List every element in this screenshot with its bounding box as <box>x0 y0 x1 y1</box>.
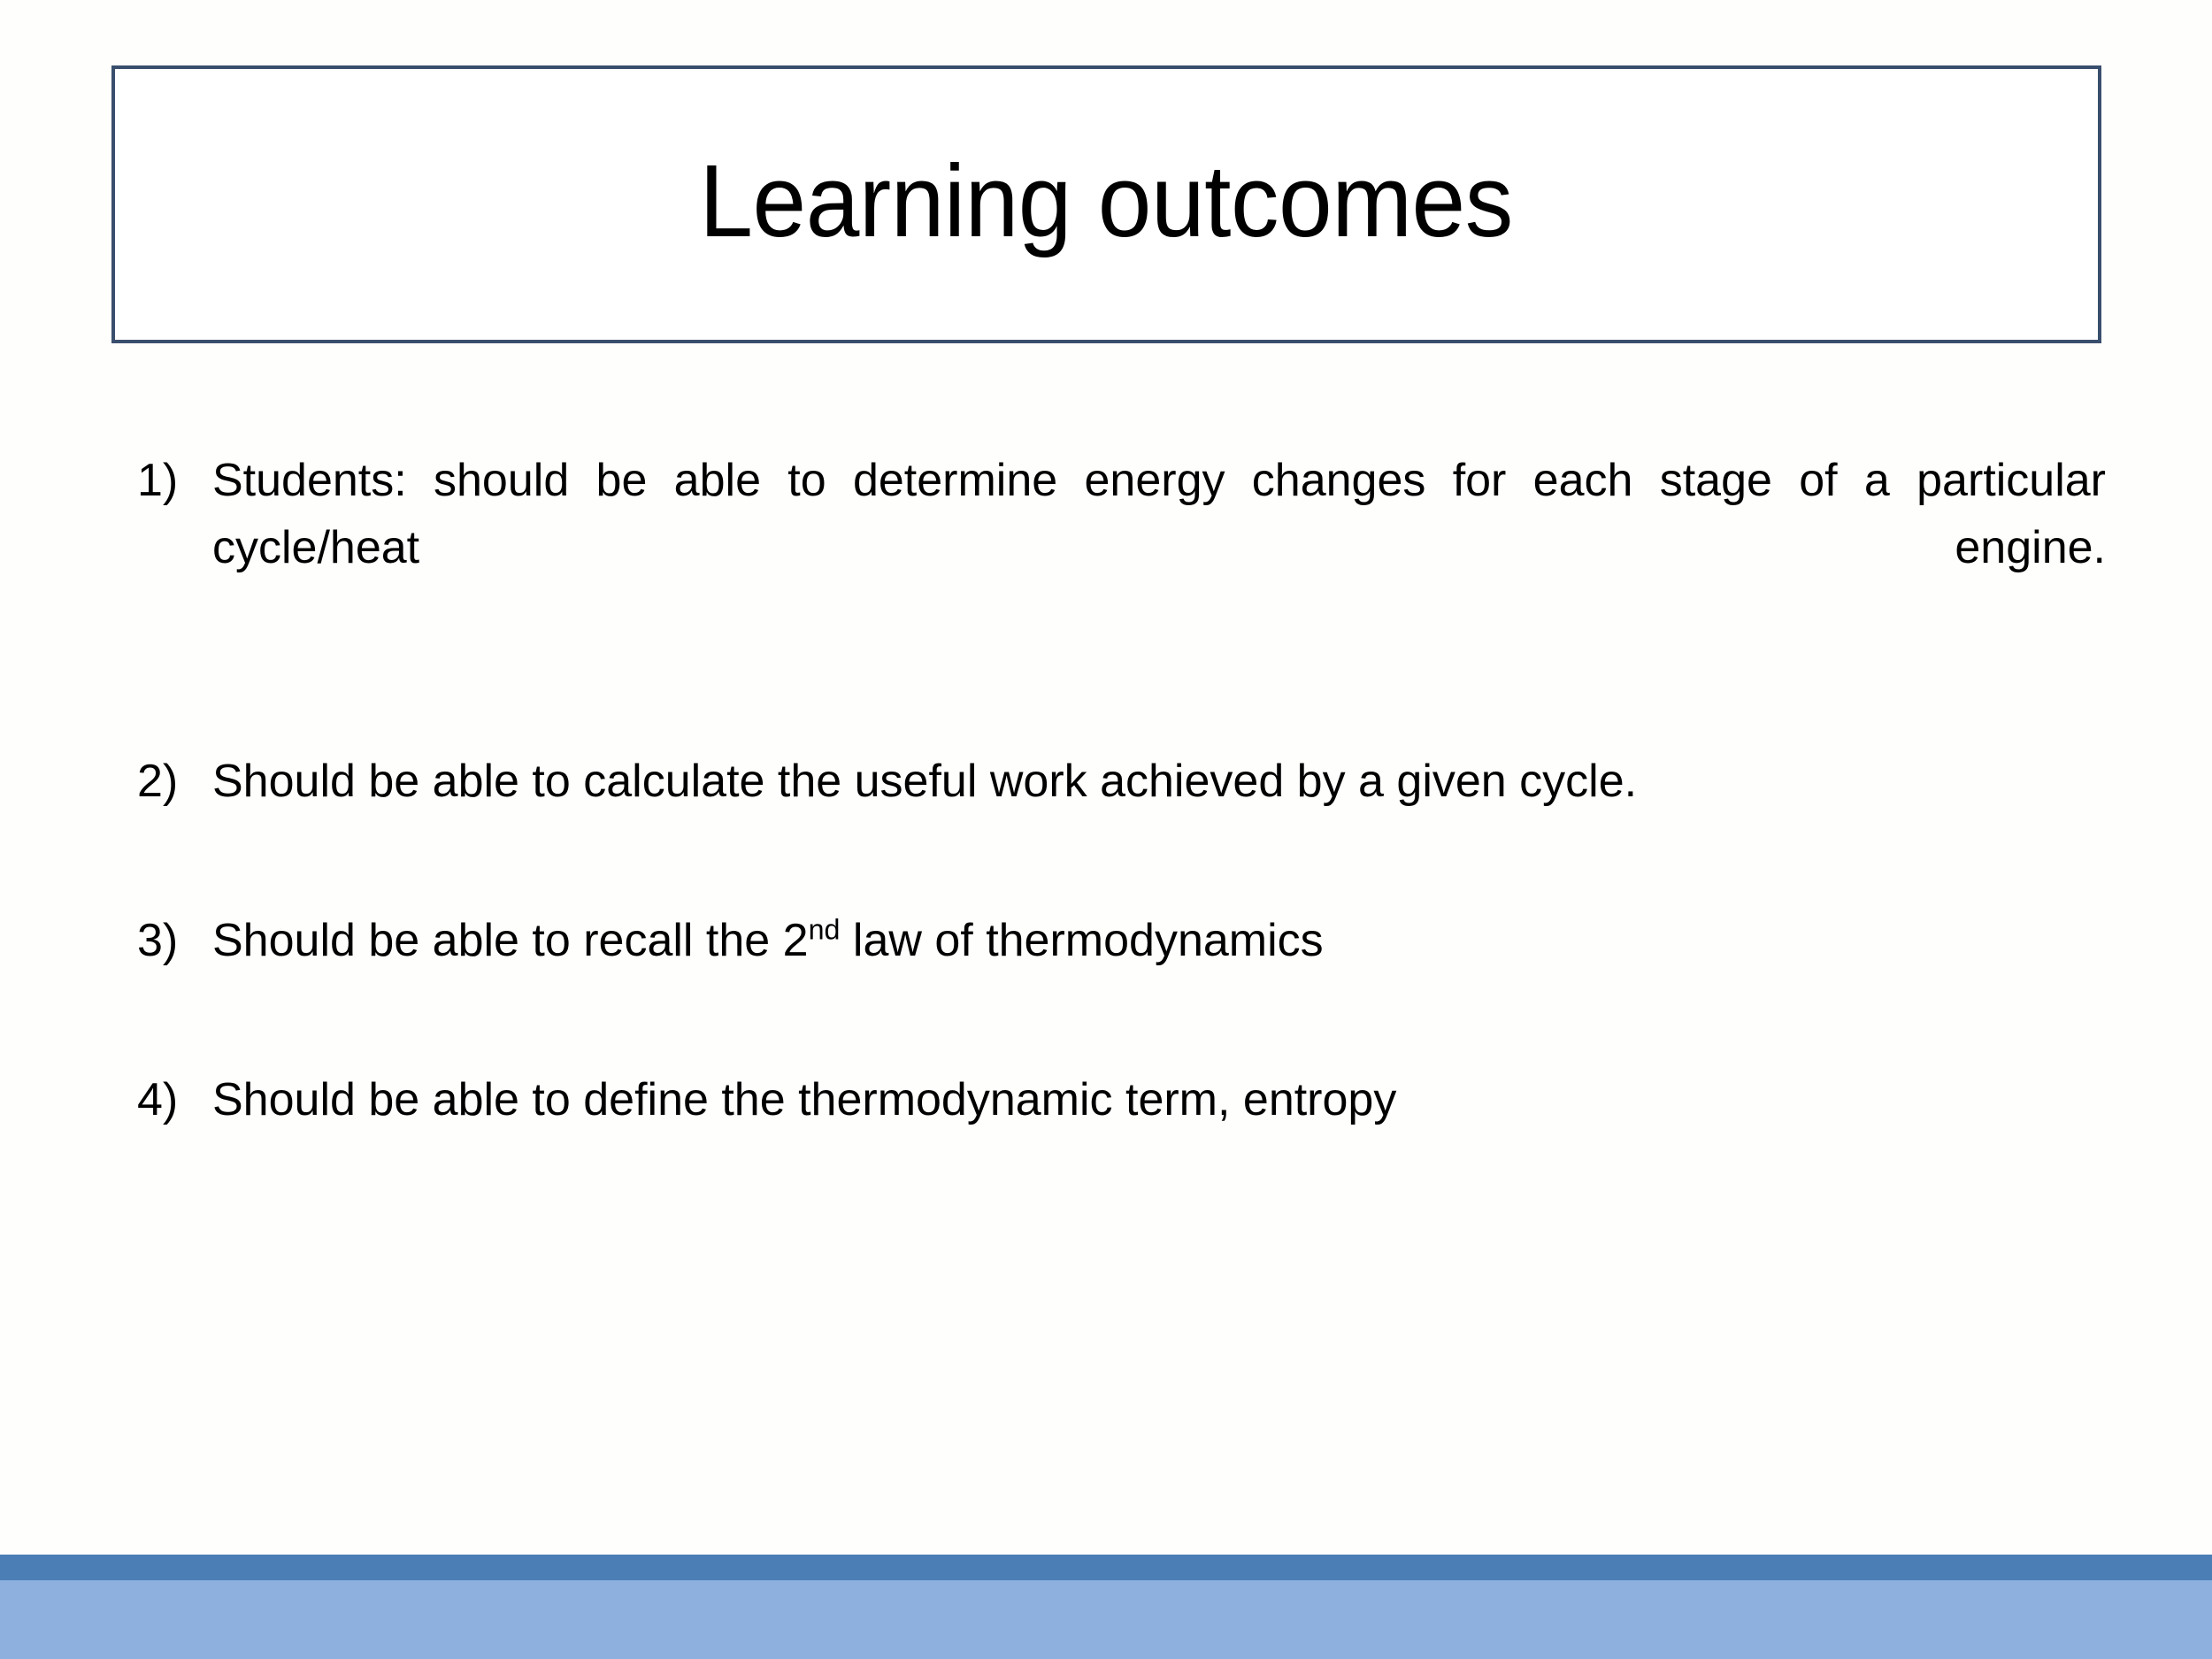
list-item-marker: 4) <box>137 1066 212 1133</box>
list-item-text: Should be able to recall the 2nd law of … <box>212 907 2106 974</box>
list-item-marker: 2) <box>137 748 212 815</box>
list-item-text: Should be able to calculate the useful w… <box>212 748 2106 815</box>
footer-band-dark <box>0 1555 2212 1580</box>
list-item: 2) Should be able to calculate the usefu… <box>137 748 2106 815</box>
list-item: 4) Should be able to define the thermody… <box>137 1066 2106 1133</box>
list-item-text-main: Students: should be able to determine en… <box>212 455 2106 573</box>
ordinal-suffix: nd <box>809 914 841 946</box>
list-spacer <box>137 649 2106 748</box>
list-item-marker: 3) <box>137 907 212 974</box>
list-item-text-main: Should be able to calculate the useful w… <box>212 756 1637 807</box>
list-item: 3) Should be able to recall the 2nd law … <box>137 907 2106 974</box>
list-item-text-tail: law of thermodynamics <box>840 915 1323 966</box>
footer-band-light <box>0 1580 2212 1659</box>
list-spacer <box>137 974 2106 1066</box>
list-item-text-main: Should be able to define the thermodynam… <box>212 1074 1396 1125</box>
list-item-marker: 1) <box>137 447 212 514</box>
list-item-text-main: Should be able to recall the 2 <box>212 915 809 966</box>
list-item-text: Should be able to define the thermodynam… <box>212 1066 2106 1133</box>
slide-canvas: Learning outcomes 1) Students: should be… <box>0 0 2212 1659</box>
list-item: 1) Students: should be able to determine… <box>137 447 2106 649</box>
title-placeholder: Learning outcomes <box>111 65 2101 343</box>
list-spacer <box>137 815 2106 907</box>
list-item-text: Students: should be able to determine en… <box>212 447 2106 649</box>
page-title: Learning outcomes <box>700 150 1513 259</box>
learning-outcomes-list: 1) Students: should be able to determine… <box>137 447 2106 1133</box>
